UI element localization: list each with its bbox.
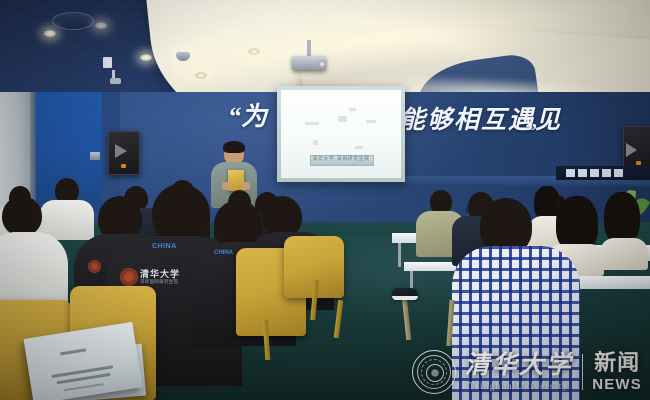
console-key (602, 169, 611, 177)
downlight-icon (140, 54, 152, 61)
eyeglasses-icon (466, 205, 482, 213)
console-key (578, 169, 587, 177)
screen-content-mark (305, 122, 319, 125)
console-key (566, 169, 575, 177)
wall-control-panel[interactable] (90, 152, 100, 160)
screen-content-mark (313, 140, 318, 145)
wall-calligraphy-quote: ” (527, 120, 537, 143)
tsinghua-seal-icon (412, 350, 456, 394)
screen-content-mark (338, 116, 347, 122)
wall-speaker-left (108, 131, 140, 175)
console-key (614, 169, 623, 177)
screen-caption-text: 清华大学·深圳研究生院 (312, 155, 370, 164)
shirt-brand-logo: CHINA (214, 250, 233, 256)
wall-calligraphy-right: 能够相互遇见 (400, 100, 562, 136)
wall-calligraphy-left: “为 (228, 96, 267, 133)
document-title-line (60, 348, 86, 355)
shirt-brand-logo: CHINA (152, 243, 177, 250)
wall-sign-plate (103, 57, 112, 68)
projector-lens-icon (318, 60, 326, 68)
watermark-university-en: Tsinghua University (469, 381, 569, 391)
screenshot-root: “为 能够相互遇见 ” 清华大学·深圳研究生院 (0, 0, 650, 400)
table-leg (398, 243, 401, 267)
table-surface (404, 262, 456, 271)
downlight-icon (95, 22, 107, 29)
watermark-news-cn: 新闻 (594, 352, 640, 374)
downlight-icon (44, 30, 56, 37)
downlight-icon (248, 48, 260, 55)
screen-content-mark (349, 108, 356, 111)
watermark: 清华大学 Tsinghua University 新闻 NEWS (412, 350, 642, 394)
watermark-news-en: NEWS (592, 377, 642, 392)
shirt-seal-logo (88, 260, 101, 273)
console-key (590, 169, 599, 177)
shirt-institute-text: 深圳国际研究生院 (140, 279, 178, 285)
screen-content-mark (355, 146, 363, 149)
ceiling-vent-icon (52, 12, 94, 30)
watermark-university-cn: 清华大学 (465, 353, 573, 378)
security-camera-icon (110, 70, 120, 84)
shirt-seal-logo (120, 268, 138, 286)
screen-content-mark (366, 120, 376, 123)
downlight-icon (195, 72, 207, 79)
shoe-sole (392, 296, 418, 300)
watermark-divider (582, 354, 584, 390)
document-body-line (64, 383, 104, 391)
